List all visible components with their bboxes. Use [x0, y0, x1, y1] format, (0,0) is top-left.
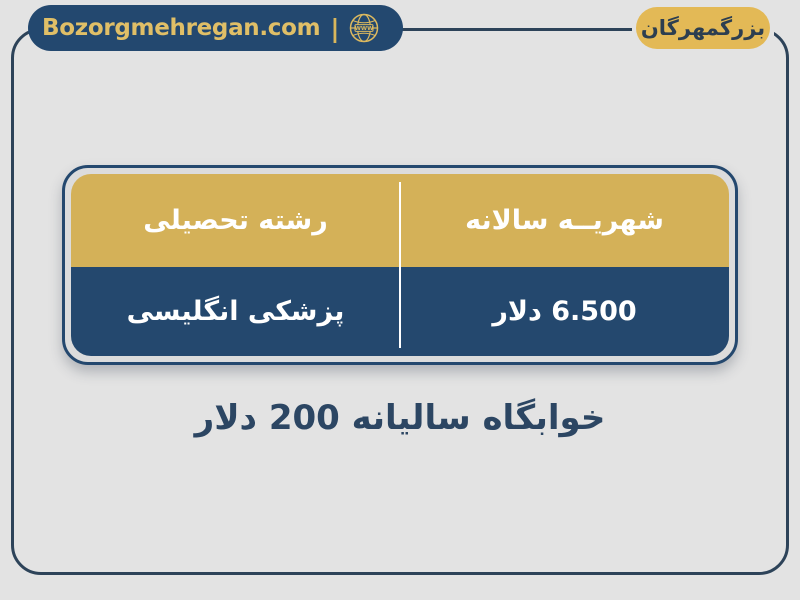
table-header-cell-tuition: شهریــه سالانه [400, 174, 729, 267]
globe-www-icon: WWW [349, 13, 379, 43]
table-cell-field: پزشکی انگلیسی [71, 267, 400, 356]
brand-badge-label: بزرگمهرگان [641, 18, 765, 39]
brand-separator: | [330, 16, 339, 41]
tuition-table-card: شهریــه سالانه رشته تحصیلی 6.500 دلار پز… [62, 165, 738, 365]
brand-badge[interactable]: بزرگمهرگان [636, 7, 770, 49]
tuition-table: شهریــه سالانه رشته تحصیلی 6.500 دلار پز… [71, 174, 729, 356]
brand-site-name: Bozorgmehregan.com [42, 17, 320, 40]
brand-pill[interactable]: WWW | Bozorgmehregan.com [28, 5, 403, 51]
svg-text:WWW: WWW [355, 26, 374, 32]
table-row: 6.500 دلار پزشکی انگلیسی [71, 267, 729, 356]
table-header-row: شهریــه سالانه رشته تحصیلی [71, 174, 729, 267]
table-cell-tuition: 6.500 دلار [400, 267, 729, 356]
table-header-cell-field: رشته تحصیلی [71, 174, 400, 267]
dorm-cost-caption: خوابگاه سالیانه 200 دلار [0, 398, 800, 439]
